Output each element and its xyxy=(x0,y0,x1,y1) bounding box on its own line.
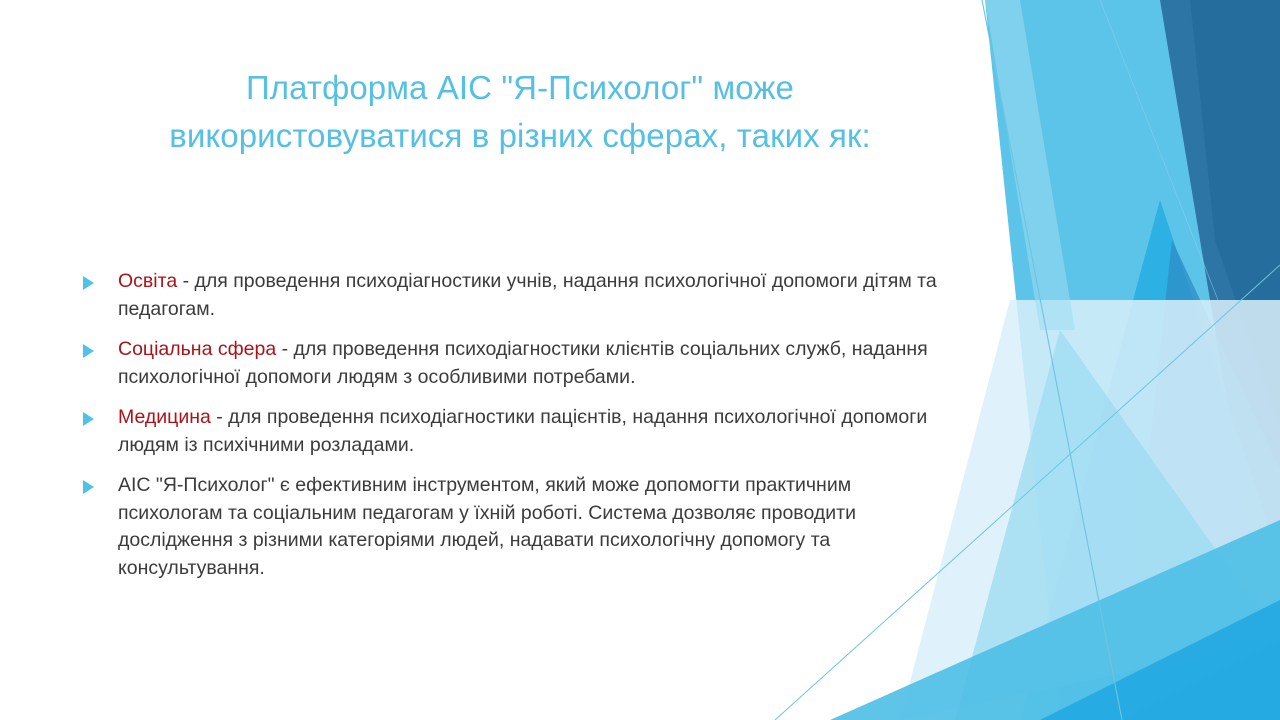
list-item-text: - для проведення психодіагностики учнів,… xyxy=(118,270,937,320)
decor-shape-bright-lower xyxy=(1040,600,1280,720)
list-item-lead: Соціальна сфера xyxy=(118,338,276,360)
triangle-right-icon xyxy=(83,276,94,290)
triangle-right-icon xyxy=(83,480,94,494)
list-item: Освіта - для проведення психодіагностики… xyxy=(80,268,960,323)
list-item-text: - для проведення психодіагностики пацієн… xyxy=(118,406,927,456)
list-item-lead: Медицина xyxy=(118,406,211,428)
decor-shape-light-sheet xyxy=(955,330,1280,720)
slide: Платформа АІС "Я-Психолог" може використ… xyxy=(0,0,1280,720)
decor-shape-dark-right xyxy=(1148,0,1280,560)
decor-shape-deep-wedge xyxy=(1120,240,1280,720)
decor-hairline-steep xyxy=(982,0,1122,720)
list-item: Медицина - для проведення психодіагности… xyxy=(80,404,960,459)
decor-shape-mid-band xyxy=(985,0,1280,720)
triangle-right-icon xyxy=(83,412,94,426)
list-item-lead: Освіта xyxy=(118,270,177,292)
decor-shape-darkest-right xyxy=(1190,0,1280,430)
bullet-list: Освіта - для проведення психодіагностики… xyxy=(80,268,960,582)
list-item-text: АІС "Я-Психолог" є ефективним інструмент… xyxy=(118,474,856,579)
decor-shape-bright-wedge xyxy=(1020,200,1280,720)
list-item: АІС "Я-Психолог" є ефективним інструмент… xyxy=(80,472,960,582)
triangle-right-icon xyxy=(83,344,94,358)
list-item: Соціальна сфера - для проведення псиході… xyxy=(80,336,960,391)
page-title: Платформа АІС "Я-Психолог" може використ… xyxy=(90,64,950,160)
decor-hairline-short xyxy=(1100,0,1218,300)
decor-shape-light-sliver-top xyxy=(985,0,1075,330)
